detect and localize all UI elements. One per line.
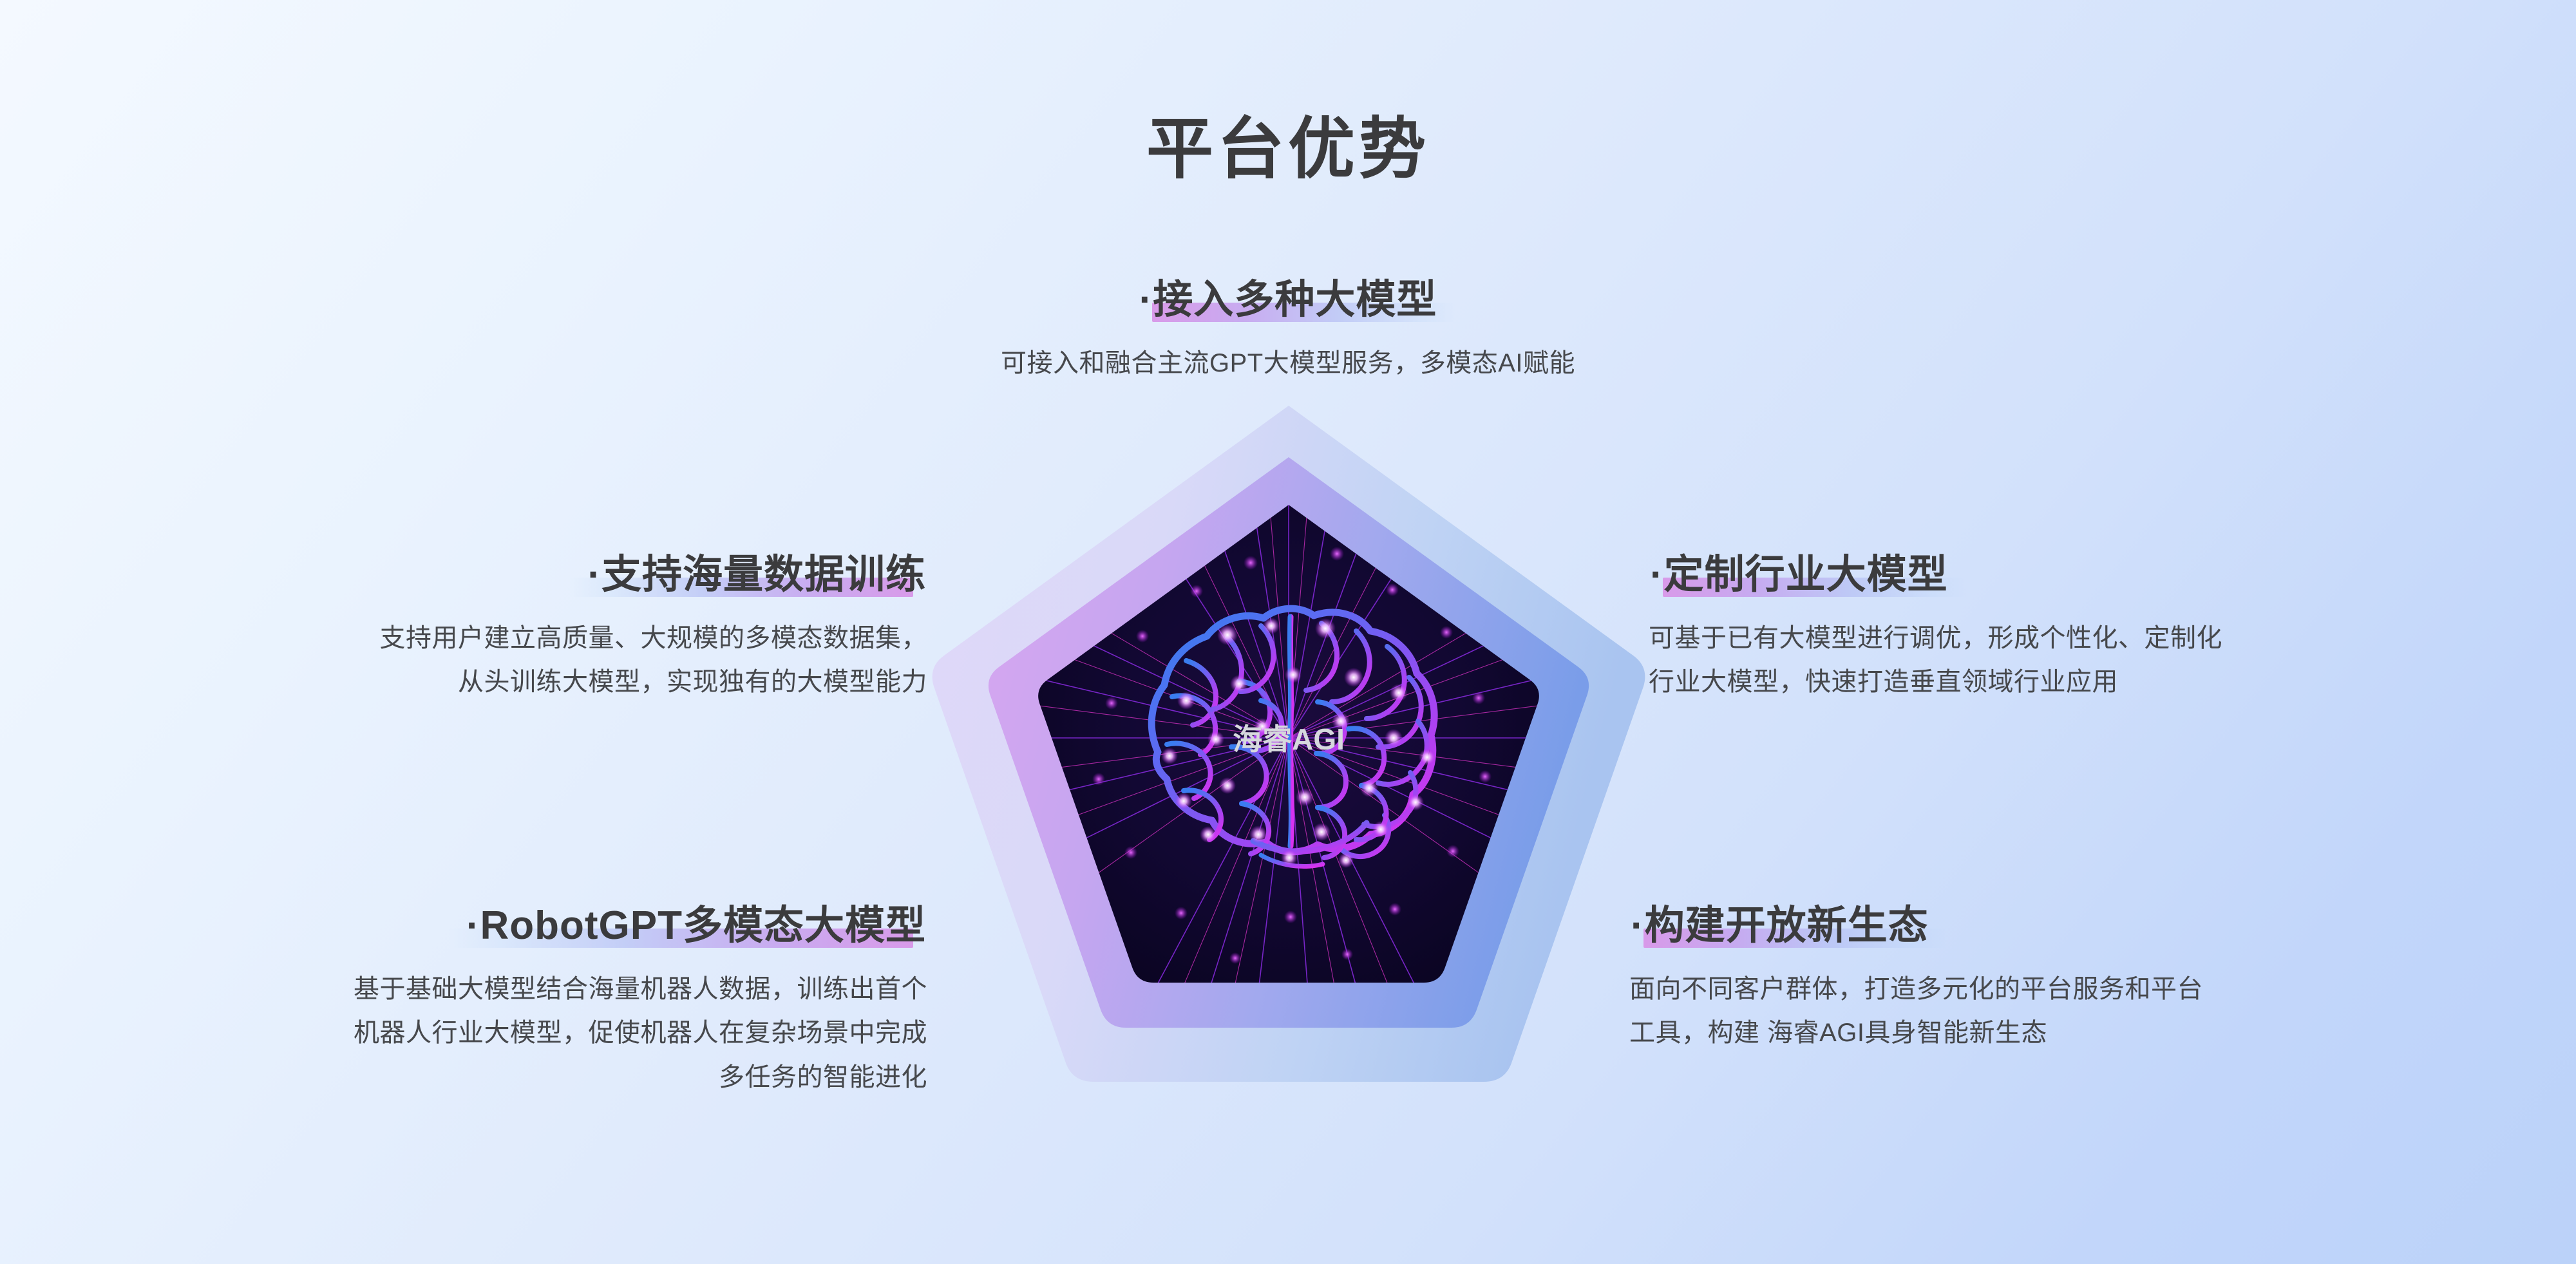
feature-top: ·接入多种大模型 可接入和融合主流GPT大模型服务，多模态AI赋能 <box>773 276 1803 385</box>
central-pentagon-graphic: 海睿AGI <box>925 386 1653 1101</box>
feature-right-upper-body: 可基于已有大模型进行调优，形成个性化、定制化 行业大模型，快速打造垂直领域行业应… <box>1649 616 2486 705</box>
feature-heading-text: 接入多种大模型 <box>1153 278 1437 322</box>
body-line: 多任务的智能进化 <box>103 1055 927 1100</box>
body-line: 基于基础大模型结合海量机器人数据，训练出首个 <box>103 967 927 1012</box>
feature-bullet: · <box>587 552 601 597</box>
feature-bullet: · <box>1139 278 1153 322</box>
body-line: 可基于已有大模型进行调优，形成个性化、定制化 <box>1649 616 2486 661</box>
page-title: 平台优势 <box>0 115 2576 185</box>
body-line: 从头训练大模型，实现独有的大模型能力 <box>103 660 927 704</box>
body-line: 机器人行业大模型，促使机器人在复杂场景中完成 <box>103 1011 927 1055</box>
feature-heading-text: 定制行业大模型 <box>1664 552 1948 597</box>
feature-top-body: 可接入和融合主流GPT大模型服务，多模态AI赋能 <box>773 341 1803 386</box>
body-line: 支持用户建立高质量、大规模的多模态数据集， <box>103 616 927 661</box>
feature-right-lower-body: 面向不同客户群体，打造多元化的平台服务和平台 工具，构建 海睿AGI具身智能新生… <box>1629 967 2479 1056</box>
feature-right-upper-heading: ·定制行业大模型 <box>1649 551 1949 599</box>
feature-bullet: · <box>1650 552 1664 597</box>
core-label: 海睿AGI <box>1233 722 1345 756</box>
feature-heading-text: 构建开放新生态 <box>1645 903 1929 948</box>
feature-left-upper-heading: ·支持海量数据训练 <box>586 551 927 599</box>
feature-right-lower: ·构建开放新生态 面向不同客户群体，打造多元化的平台服务和平台 工具，构建 海睿… <box>1629 901 2479 1055</box>
feature-right-lower-heading: ·构建开放新生态 <box>1629 901 1930 950</box>
pentagon-core-dark: 海睿AGI <box>1034 500 1543 995</box>
slide-canvas: 平台优势 <box>0 0 2576 1264</box>
feature-left-upper: ·支持海量数据训练 支持用户建立高质量、大规模的多模态数据集， 从头训练大模型，… <box>103 551 927 704</box>
feature-heading-text: 支持海量数据训练 <box>601 552 926 597</box>
feature-top-heading: ·接入多种大模型 <box>1138 276 1439 325</box>
feature-left-lower: ·RobotGPT多模态大模型 基于基础大模型结合海量机器人数据，训练出首个 机… <box>103 901 927 1100</box>
feature-bullet: · <box>1631 903 1645 948</box>
body-line: 工具，构建 海睿AGI具身智能新生态 <box>1629 1011 2479 1055</box>
body-line: 可接入和融合主流GPT大模型服务，多模态AI赋能 <box>773 341 1803 386</box>
feature-left-upper-body: 支持用户建立高质量、大规模的多模态数据集， 从头训练大模型，实现独有的大模型能力 <box>103 616 927 705</box>
feature-left-lower-heading: ·RobotGPT多模态大模型 <box>465 901 927 950</box>
body-line: 面向不同客户群体，打造多元化的平台服务和平台 <box>1629 967 2479 1012</box>
feature-bullet: · <box>466 903 480 948</box>
feature-right-upper: ·定制行业大模型 可基于已有大模型进行调优，形成个性化、定制化 行业大模型，快速… <box>1649 551 2486 704</box>
feature-left-lower-body: 基于基础大模型结合海量机器人数据，训练出首个 机器人行业大模型，促使机器人在复杂… <box>103 967 927 1100</box>
feature-heading-text: RobotGPT多模态大模型 <box>480 903 927 948</box>
body-line: 行业大模型，快速打造垂直领域行业应用 <box>1649 660 2486 704</box>
